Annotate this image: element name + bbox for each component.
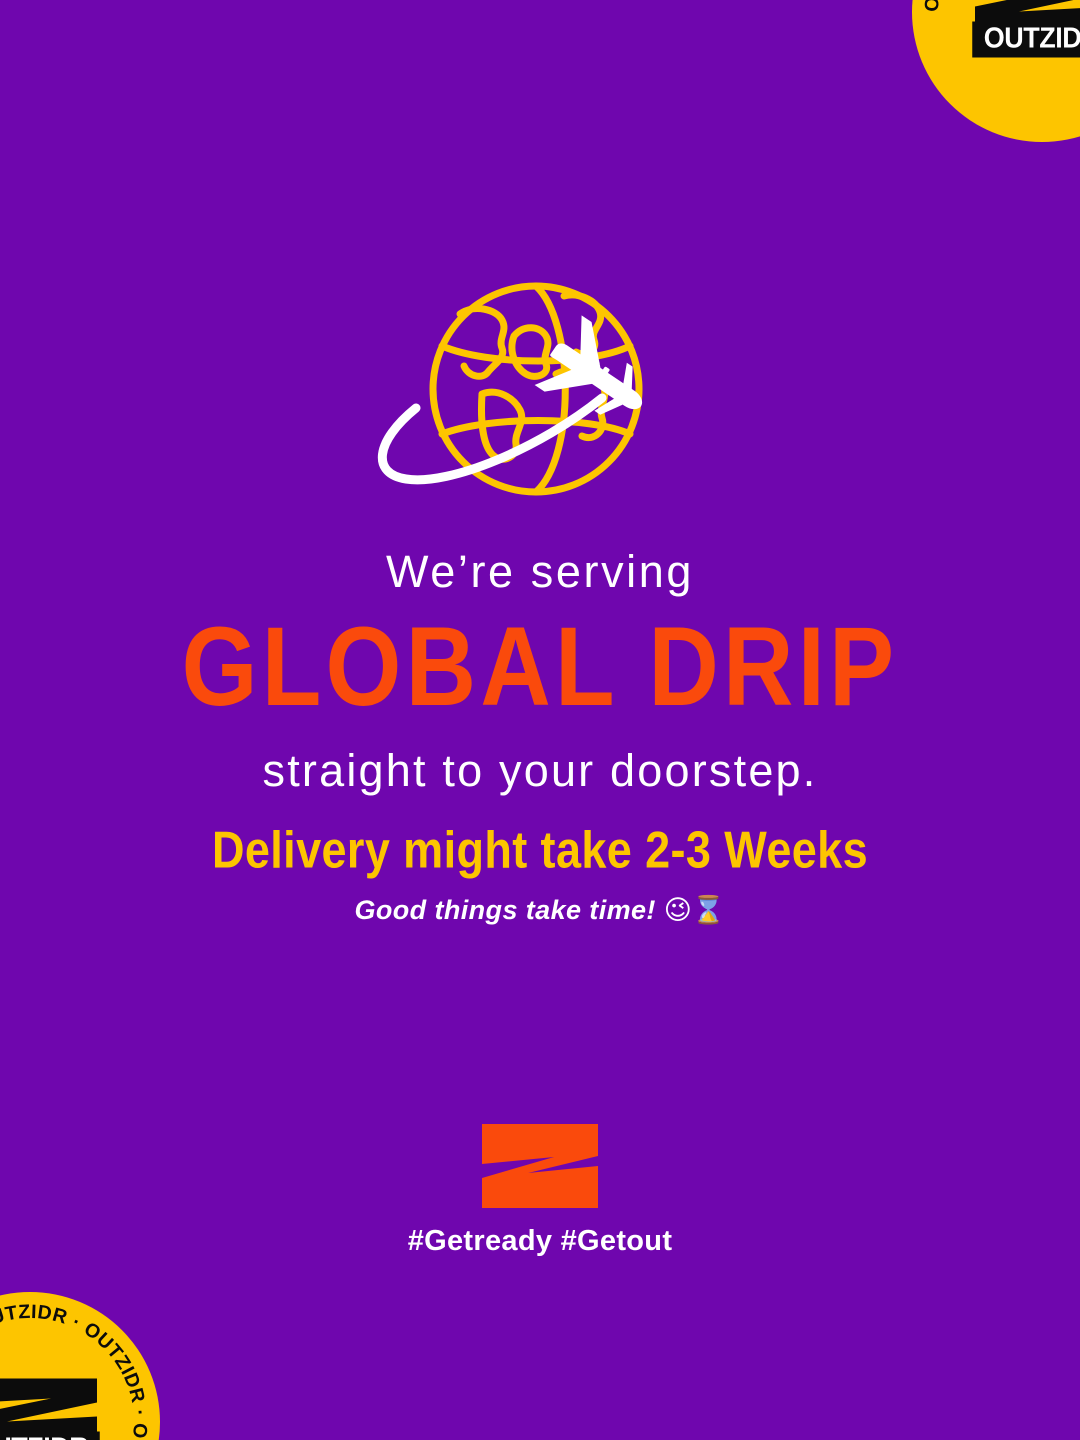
delivery-headline: Delivery might take 2-3 Weeks [0,820,1080,880]
delivery-subline-text: Good things take time! [355,895,656,925]
outzidr-z-logo-icon [478,1122,602,1210]
footer-hashtags: #Getready #Getout [0,1225,1080,1258]
badge-core: OUTZIDR [967,0,1080,58]
delivery-note-block: Delivery might take 2-3 Weeks Good thing… [0,820,1080,926]
badge-wordmark: OUTZIDR [0,1432,100,1440]
outzidr-badge-bottom-left: OUTZIDR · OUTZIDR · OUTZIDR · OUTZIDR · … [0,1292,160,1440]
headline-eyebrow: We’re serving [0,548,1080,595]
headline-block: We’re serving GLOBAL DRIP straight to yo… [0,548,1080,795]
promo-poster: OUTZIDR · OUTZIDR · OUTZIDR · OUTZIDR · … [0,0,1080,1440]
globe-airplane-illustration [0,276,1080,508]
headline-tail: straight to your doorstep. [0,747,1080,794]
outzidr-badge-top-right: OUTZIDR · OUTZIDR · OUTZIDR · OUTZIDR · … [912,0,1080,142]
orbit-swoosh-icon [382,398,602,480]
outzidr-z-logo-icon [0,1377,105,1439]
badge-core: OUTZIDR [0,1377,105,1440]
hero-art-svg [364,276,716,508]
badge-wordmark: OUTZIDR [972,22,1080,58]
wink-hourglass-emoji: 😉⌛ [664,895,726,926]
delivery-subline: Good things take time! 😉⌛ [0,894,1080,926]
headline-main: GLOBAL DRIP [0,611,1080,723]
footer-lockup: #Getready #Getout [0,1122,1080,1258]
